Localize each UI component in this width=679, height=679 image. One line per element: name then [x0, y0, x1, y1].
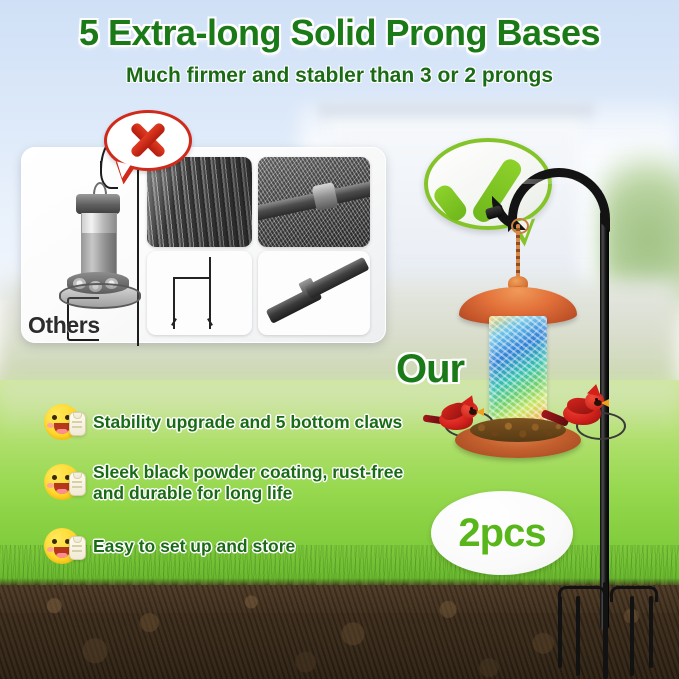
rusty-rods-thumbnail — [147, 157, 252, 247]
hummingbird-feeder-icon — [55, 182, 141, 310]
quantity-badge-label: 2pcs — [458, 511, 545, 556]
negative-speech-bubble — [104, 110, 192, 171]
feature-label: Sleek black powder coating, rust-free an… — [93, 462, 403, 505]
two-prong-stake-thumbnail — [147, 251, 252, 335]
cardinal-bird-icon — [425, 398, 487, 444]
blurred-house-eave — [318, 104, 594, 120]
cardinal-bird-icon — [555, 388, 625, 444]
feeder-mosaic-glass-tube — [489, 316, 547, 428]
feature-label: Easy to set up and store — [93, 536, 295, 557]
hanging-chain-ring-icon — [511, 218, 529, 234]
feature-label: Stability upgrade and 5 bottom claws — [93, 412, 402, 433]
smiley-thumbs-up-icon — [44, 464, 86, 502]
feature-item: Easy to set up and store — [44, 528, 295, 566]
infographic-canvas: 5 Extra-long Solid Prong Bases Much firm… — [0, 0, 679, 679]
x-mark-icon — [125, 117, 171, 163]
smiley-thumbs-up-icon — [44, 404, 86, 442]
quantity-badge: 2pcs — [431, 491, 573, 575]
separated-tube-joint-thumbnail — [258, 251, 370, 335]
stake-drawing — [147, 251, 252, 335]
smiley-thumbs-up-icon — [44, 528, 86, 566]
page-title: 5 Extra-long Solid Prong Bases — [0, 12, 679, 54]
others-label: Others — [28, 312, 100, 339]
five-prong-base-icon — [548, 582, 668, 679]
page-subtitle: Much firmer and stabler than 3 or 2 pron… — [0, 64, 679, 88]
rusted-pole-joint-thumbnail — [258, 157, 370, 247]
our-label: Our — [396, 347, 464, 392]
feature-item: Stability upgrade and 5 bottom claws — [44, 404, 402, 442]
feature-item: Sleek black powder coating, rust-free an… — [44, 462, 403, 505]
hanging-chain-icon — [516, 224, 520, 280]
